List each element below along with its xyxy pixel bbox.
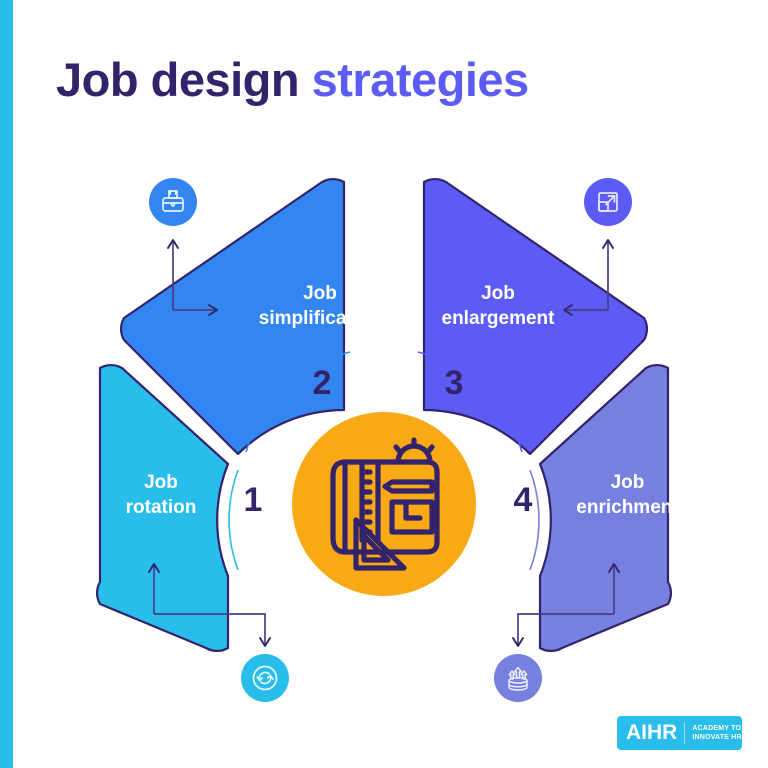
step-number-3: 3 xyxy=(434,364,474,403)
badge-job-enlargement[interactable] xyxy=(584,178,632,226)
logo-tagline-line2: INNOVATE HR xyxy=(692,733,741,742)
step-number-2: 2 xyxy=(302,364,342,403)
wedge-label-line1: Job xyxy=(400,281,596,306)
badge-job-enrichment[interactable] xyxy=(494,654,542,702)
wedge-label-job-rotation: Job rotation xyxy=(96,470,226,520)
wedge-label-job-enrichment: Job enrichment xyxy=(545,470,710,520)
badge-job-simplification[interactable] xyxy=(149,178,197,226)
wedge-label-line2: simplification xyxy=(222,306,418,331)
step-number-4: 4 xyxy=(503,481,543,520)
badge-job-rotation[interactable] xyxy=(241,654,289,702)
wedge-label-job-simplification: Job simplification xyxy=(222,281,418,331)
wedge-label-line2: enlargement xyxy=(400,306,596,331)
expand-arrow-icon xyxy=(594,188,622,216)
wedge-label-job-enlargement: Job enlargement xyxy=(400,281,596,331)
logo-wordmark: AIHR xyxy=(617,721,677,745)
briefcase-icon xyxy=(159,188,187,216)
logo-tagline-line1: ACADEMY TO xyxy=(692,724,741,733)
logo-tagline: ACADEMY TO INNOVATE HR xyxy=(692,724,741,742)
growth-stack-icon xyxy=(504,664,532,692)
aihr-logo[interactable]: AIHR ACADEMY TO INNOVATE HR xyxy=(617,716,742,750)
logo-divider xyxy=(684,722,685,744)
rotate-arrows-icon xyxy=(250,663,280,693)
wedge-label-line2: enrichment xyxy=(545,495,710,520)
wedge-label-line1: Job xyxy=(222,281,418,306)
infographic-canvas: Job design strategies xyxy=(0,0,768,768)
wedge-label-line1: Job xyxy=(545,470,710,495)
wedge-label-line1: Job xyxy=(96,470,226,495)
strategy-wheel-diagram xyxy=(0,0,768,768)
wedge-label-line2: rotation xyxy=(96,495,226,520)
step-number-1: 1 xyxy=(233,481,273,520)
